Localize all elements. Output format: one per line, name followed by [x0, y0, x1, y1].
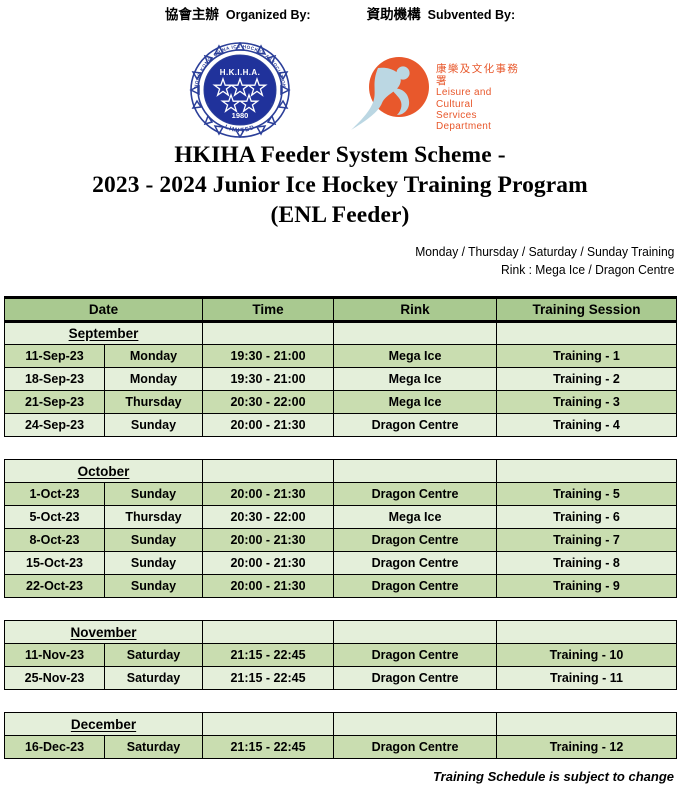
- cell-session: Training - 4: [497, 414, 677, 437]
- schedule-subtitle: Monday / Thursday / Saturday / Sunday Tr…: [48, 243, 680, 281]
- month-row-rink-cell: [334, 460, 497, 483]
- cell-session: Training - 1: [497, 345, 677, 368]
- cell-date: 11-Sep-23: [5, 345, 105, 368]
- table-row: 18-Sep-23Monday19:30 - 21:00Mega IceTrai…: [5, 368, 677, 391]
- month-row-session-cell: [497, 322, 677, 345]
- cell-day: Saturday: [105, 736, 203, 759]
- month-row-session-cell: [497, 460, 677, 483]
- page-title: HKIHA Feeder System Scheme - 2023 - 2024…: [0, 141, 680, 231]
- cell-time: 20:00 - 21:30: [203, 483, 334, 506]
- cell-date: 8-Oct-23: [5, 529, 105, 552]
- page-title-line2: 2023 - 2024 Junior Ice Hockey Training P…: [0, 171, 680, 201]
- svg-text:LIMITED: LIMITED: [224, 124, 257, 134]
- column-header-rink: Rink: [334, 298, 497, 322]
- cell-day: Monday: [105, 345, 203, 368]
- cell-session: Training - 6: [497, 506, 677, 529]
- month-row-time-cell: [203, 460, 334, 483]
- cell-rink: Dragon Centre: [334, 414, 497, 437]
- lcsd-logo: 康樂及文化事務署 Leisure and Cultural Services D…: [348, 56, 523, 134]
- cell-time: 19:30 - 21:00: [203, 368, 334, 391]
- month-row-time-cell: [203, 713, 334, 736]
- table-row: 11-Sep-23Monday19:30 - 21:00Mega IceTrai…: [5, 345, 677, 368]
- cell-day: Saturday: [105, 667, 203, 690]
- cell-session: Training - 3: [497, 391, 677, 414]
- month-row-rink-cell: [334, 713, 497, 736]
- column-header-time: Time: [203, 298, 334, 322]
- cell-rink: Mega Ice: [334, 391, 497, 414]
- cell-date: 16-Dec-23: [5, 736, 105, 759]
- cell-time: 21:15 - 22:45: [203, 644, 334, 667]
- cell-date: 18-Sep-23: [5, 368, 105, 391]
- page-title-line1: HKIHA Feeder System Scheme -: [0, 141, 680, 171]
- month-row-session-cell: [497, 713, 677, 736]
- cell-session: Training - 10: [497, 644, 677, 667]
- cell-date: 25-Nov-23: [5, 667, 105, 690]
- cell-session: Training - 5: [497, 483, 677, 506]
- cell-date: 22-Oct-23: [5, 575, 105, 598]
- cell-time: 20:30 - 22:00: [203, 391, 334, 414]
- table-row: 16-Dec-23Saturday21:15 - 22:45Dragon Cen…: [5, 736, 677, 759]
- column-header-training-session: Training Session: [497, 298, 677, 322]
- month-row-time-cell: [203, 322, 334, 345]
- cell-rink: Dragon Centre: [334, 736, 497, 759]
- table-row: 15-Oct-23Sunday20:00 - 21:30Dragon Centr…: [5, 552, 677, 575]
- cell-time: 20:00 - 21:30: [203, 414, 334, 437]
- cell-date: 21-Sep-23: [5, 391, 105, 414]
- subtitle-training-days: Monday / Thursday / Saturday / Sunday Tr…: [48, 243, 675, 262]
- lcsd-figure-icon: [348, 56, 434, 134]
- schedule-table-september: DateTimeRinkTraining SessionSeptember11-…: [4, 296, 677, 437]
- cell-day: Saturday: [105, 644, 203, 667]
- month-row-rink-cell: [334, 621, 497, 644]
- cell-day: Monday: [105, 368, 203, 391]
- cell-time: 20:00 - 21:30: [203, 575, 334, 598]
- cell-session: Training - 11: [497, 667, 677, 690]
- table-header-row: DateTimeRinkTraining Session: [5, 298, 677, 322]
- cell-day: Thursday: [105, 391, 203, 414]
- cell-time: 19:30 - 21:00: [203, 345, 334, 368]
- month-label: September: [5, 322, 203, 345]
- month-label: November: [5, 621, 203, 644]
- column-header-date: Date: [5, 298, 203, 322]
- cell-day: Thursday: [105, 506, 203, 529]
- lcsd-logo-text: 康樂及文化事務署 Leisure and Cultural Services D…: [436, 58, 523, 132]
- page-title-line3: (ENL Feeder): [0, 201, 680, 231]
- schedule-disclaimer: Training Schedule is subject to change: [433, 769, 674, 784]
- logo-strip: HONG KONG, CHINA ICE HOCKEY ASSOCIATION …: [0, 20, 680, 135]
- month-row-december: December: [5, 713, 677, 736]
- cell-rink: Dragon Centre: [334, 575, 497, 598]
- schedule-table-november: November11-Nov-23Saturday21:15 - 22:45Dr…: [4, 620, 677, 690]
- lcsd-text-en-line1: Leisure and Cultural: [436, 87, 523, 109]
- sponsor-header-bar: 協會主辦 Organized By: 資助機構 Subvented By:: [0, 0, 680, 20]
- month-row-time-cell: [203, 621, 334, 644]
- cell-time: 20:00 - 21:30: [203, 529, 334, 552]
- schedule-table-december: December16-Dec-23Saturday21:15 - 22:45Dr…: [4, 712, 677, 759]
- cell-rink: Dragon Centre: [334, 529, 497, 552]
- month-row-october: October: [5, 460, 677, 483]
- month-row-november: November: [5, 621, 677, 644]
- cell-day: Sunday: [105, 414, 203, 437]
- cell-day: Sunday: [105, 483, 203, 506]
- cell-time: 21:15 - 22:45: [203, 667, 334, 690]
- cell-day: Sunday: [105, 552, 203, 575]
- table-row: 1-Oct-23Sunday20:00 - 21:30Dragon Centre…: [5, 483, 677, 506]
- table-row: 24-Sep-23Sunday20:00 - 21:30Dragon Centr…: [5, 414, 677, 437]
- month-row-session-cell: [497, 621, 677, 644]
- month-label: October: [5, 460, 203, 483]
- month-block-gap: [4, 437, 676, 459]
- cell-date: 1-Oct-23: [5, 483, 105, 506]
- table-row: 21-Sep-23Thursday20:30 - 22:00Mega IceTr…: [5, 391, 677, 414]
- table-row: 22-Oct-23Sunday20:00 - 21:30Dragon Centr…: [5, 575, 677, 598]
- cell-date: 5-Oct-23: [5, 506, 105, 529]
- table-row: 11-Nov-23Saturday21:15 - 22:45Dragon Cen…: [5, 644, 677, 667]
- svg-text:1980: 1980: [232, 111, 249, 120]
- cell-rink: Mega Ice: [334, 368, 497, 391]
- lcsd-text-cn: 康樂及文化事務署: [436, 64, 523, 88]
- cell-time: 21:15 - 22:45: [203, 736, 334, 759]
- month-row-rink-cell: [334, 322, 497, 345]
- cell-time: 20:30 - 22:00: [203, 506, 334, 529]
- cell-date: 11-Nov-23: [5, 644, 105, 667]
- month-label: December: [5, 713, 203, 736]
- cell-rink: Mega Ice: [334, 506, 497, 529]
- table-row: 25-Nov-23Saturday21:15 - 22:45Dragon Cen…: [5, 667, 677, 690]
- cell-session: Training - 2: [497, 368, 677, 391]
- cell-date: 15-Oct-23: [5, 552, 105, 575]
- cell-rink: Dragon Centre: [334, 552, 497, 575]
- table-row: 8-Oct-23Sunday20:00 - 21:30Dragon Centre…: [5, 529, 677, 552]
- training-schedule: DateTimeRinkTraining SessionSeptember11-…: [4, 296, 676, 759]
- cell-rink: Dragon Centre: [334, 483, 497, 506]
- table-row: 5-Oct-23Thursday20:30 - 22:00Mega IceTra…: [5, 506, 677, 529]
- cell-day: Sunday: [105, 575, 203, 598]
- hkiha-crest-icon: HONG KONG, CHINA ICE HOCKEY ASSOCIATION …: [175, 42, 305, 138]
- cell-session: Training - 9: [497, 575, 677, 598]
- month-row-september: September: [5, 322, 677, 345]
- cell-session: Training - 7: [497, 529, 677, 552]
- cell-day: Sunday: [105, 529, 203, 552]
- svg-text:H.K.I.H.A.: H.K.I.H.A.: [220, 68, 260, 77]
- cell-session: Training - 8: [497, 552, 677, 575]
- schedule-table-october: October1-Oct-23Sunday20:00 - 21:30Dragon…: [4, 459, 677, 598]
- cell-date: 24-Sep-23: [5, 414, 105, 437]
- cell-session: Training - 12: [497, 736, 677, 759]
- month-block-gap: [4, 598, 676, 620]
- subtitle-rinks: Rink : Mega Ice / Dragon Centre: [48, 261, 675, 280]
- cell-rink: Dragon Centre: [334, 644, 497, 667]
- cell-rink: Mega Ice: [334, 345, 497, 368]
- month-block-gap: [4, 690, 676, 712]
- cell-time: 20:00 - 21:30: [203, 552, 334, 575]
- cell-rink: Dragon Centre: [334, 667, 497, 690]
- lcsd-text-en-line2: Services Department: [436, 110, 523, 132]
